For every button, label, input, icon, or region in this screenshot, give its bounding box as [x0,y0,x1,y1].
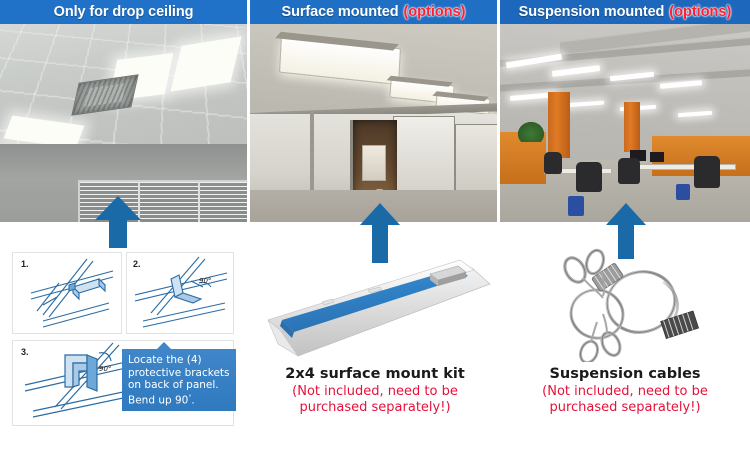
desk [636,164,736,170]
suspension-cables-note-line-1: (Not included, need to be [505,384,745,400]
office-chair [694,156,720,188]
panel-suspension-mounted: Suspension mounted (options) [500,0,750,222]
caption-surface-mount-kit: 2x4 surface mount kit (Not included, nee… [255,366,495,416]
surface-mount-kit-note: (Not included, need to be purchased sepa… [255,384,495,416]
callout-line-4-period: . [191,394,194,406]
diagram-step-2: 2. 90° [126,252,234,334]
diagram-step-1-drawing [13,253,121,333]
partition-panel [455,124,497,198]
suspension-cables-note-line-2: purchased separately!) [505,400,745,416]
diagram-step-1: 1. [12,252,122,334]
photo-drop-ceiling [0,24,247,222]
suspension-cables-note: (Not included, need to be purchased sepa… [505,384,745,416]
structural-column [548,92,570,158]
diagram-step-3-angle-label: 90° [99,365,111,373]
arrow-surface-mount-icon [360,203,400,263]
blue-bag [676,184,690,200]
photo-surface-mounted [250,24,497,222]
panel-header-drop-ceiling: Only for drop ceiling [0,0,247,24]
caption-suspension-cables: Suspension cables (Not included, need to… [505,366,745,416]
product-mounting-options-graphic: Only for drop ceiling Surface mounted (o… [0,0,750,464]
surface-mount-kit-image [262,258,494,362]
panel-title-drop-ceiling: Only for drop ceiling [54,4,194,20]
panel-header-suspension-mounted: Suspension mounted (options) [500,0,750,24]
panel-drop-ceiling: Only for drop ceiling [0,0,247,222]
diagram-step-2-angle-label: 90° [199,277,211,285]
panel-title-surface-mounted: Surface mounted [282,4,399,20]
diagram-step-1-number: 1. [21,259,29,269]
bracket-instruction-callout: Locate the (4) protective brackets on ba… [122,349,236,411]
panel-header-surface-mounted: Surface mounted (options) [250,0,497,24]
blue-bag [568,196,584,216]
cabinet [362,145,386,181]
diagram-step-3-number: 3. [21,347,29,357]
office-chair [544,152,562,174]
callout-line-4-text: Bend up 90 [128,394,188,406]
photo-suspension-mounted [500,24,750,222]
panel-option-suspension-mounted: (options) [669,4,731,20]
callout-pointer-icon [156,342,172,350]
surface-mount-kit-title: 2x4 surface mount kit [255,366,495,382]
diagram-step-2-drawing: 90° [127,253,233,333]
panel-option-surface-mounted: (options) [403,4,465,20]
suspension-cables-title: Suspension cables [505,366,745,382]
carabiner-hook [577,339,600,362]
monitor [650,152,664,162]
office-chair [576,162,602,192]
callout-line-3: on back of panel. [128,379,230,392]
callout-line-1: Locate the (4) [128,354,230,367]
callout-line-4: Bend up 90°. [128,392,230,407]
potted-plant [518,122,544,142]
surface-mount-kit-note-line-1: (Not included, need to be [255,384,495,400]
suspension-cables-image [545,248,715,362]
diagram-step-2-number: 2. [133,259,141,269]
panel-title-suspension-mounted: Suspension mounted [519,4,665,20]
callout-line-2: protective brackets [128,367,230,380]
office-chair [618,158,640,184]
structural-column [624,102,640,152]
panel-surface-mounted: Surface mounted (options) [250,0,497,222]
carabiner-hook [599,330,624,359]
surface-mount-kit-note-line-2: purchased separately!) [255,400,495,416]
